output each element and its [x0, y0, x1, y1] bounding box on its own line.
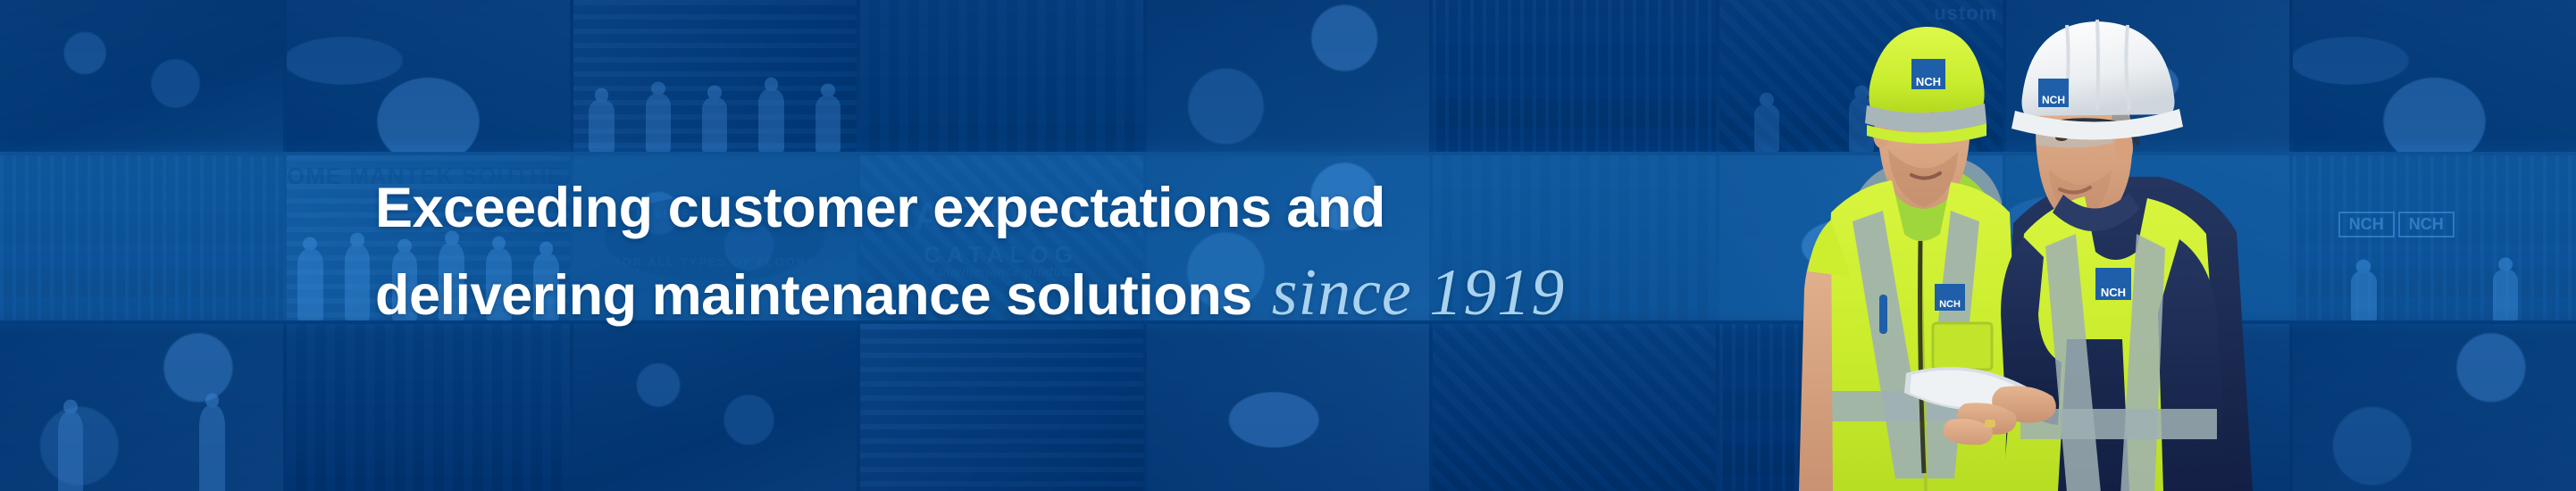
- page-title: Exceeding customer expectations and deli…: [375, 166, 1565, 338]
- svg-text:NCH: NCH: [1939, 299, 1961, 310]
- svg-text:NCH: NCH: [1916, 75, 1941, 88]
- headline-line-1: Exceeding customer expectations and: [375, 177, 1385, 239]
- since-tagline: since 1919: [1272, 256, 1566, 329]
- svg-text:NCH: NCH: [2042, 94, 2065, 106]
- hero-banner: ustom OME MANTEK SOUTHEASTERN SELF-POLIS…: [0, 0, 2576, 491]
- workers-photo: NCH NCH: [1745, 0, 2281, 491]
- headline-line-2: delivering maintenance solutions: [375, 264, 1252, 327]
- svg-text:NCH: NCH: [2101, 286, 2126, 299]
